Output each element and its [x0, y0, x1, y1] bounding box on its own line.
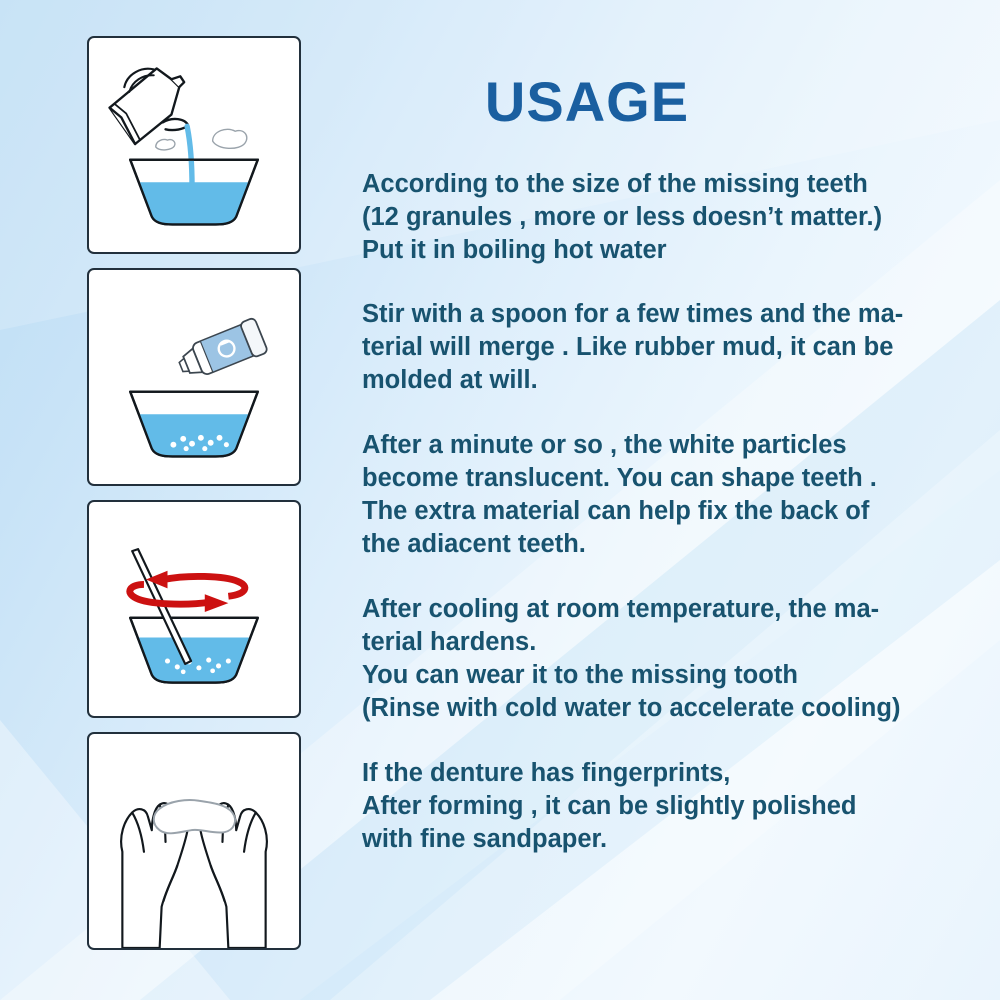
page-title: USAGE — [362, 74, 962, 130]
panel-1-kettle-pouring-water — [87, 36, 301, 254]
panel-2-bottle-granules — [87, 268, 301, 486]
usage-instruction-page: USAGE According to the size of the missi… — [0, 0, 1000, 1000]
kettle-pouring-water-into-bowl-icon — [89, 38, 299, 252]
hands-molding-denture-icon — [89, 734, 299, 948]
instruction-step-3: After a minute or so , the white particl… — [362, 429, 962, 561]
instruction-step-2: Stir with a spoon for a few times and th… — [362, 298, 962, 397]
instruction-step-5: If the denture has fingerprints, After f… — [362, 757, 962, 856]
instruction-step-4: After cooling at room temperature, the m… — [362, 593, 962, 725]
illustration-column — [87, 36, 305, 964]
bottle-pouring-granules-into-bowl-icon — [89, 270, 299, 484]
stirring-rod-in-bowl-icon — [89, 502, 299, 716]
text-column: USAGE According to the size of the missi… — [362, 36, 962, 856]
instruction-step-1: According to the size of the missing tee… — [362, 168, 962, 267]
panel-4-hands-molding — [87, 732, 301, 950]
panel-3-stirring-rod — [87, 500, 301, 718]
